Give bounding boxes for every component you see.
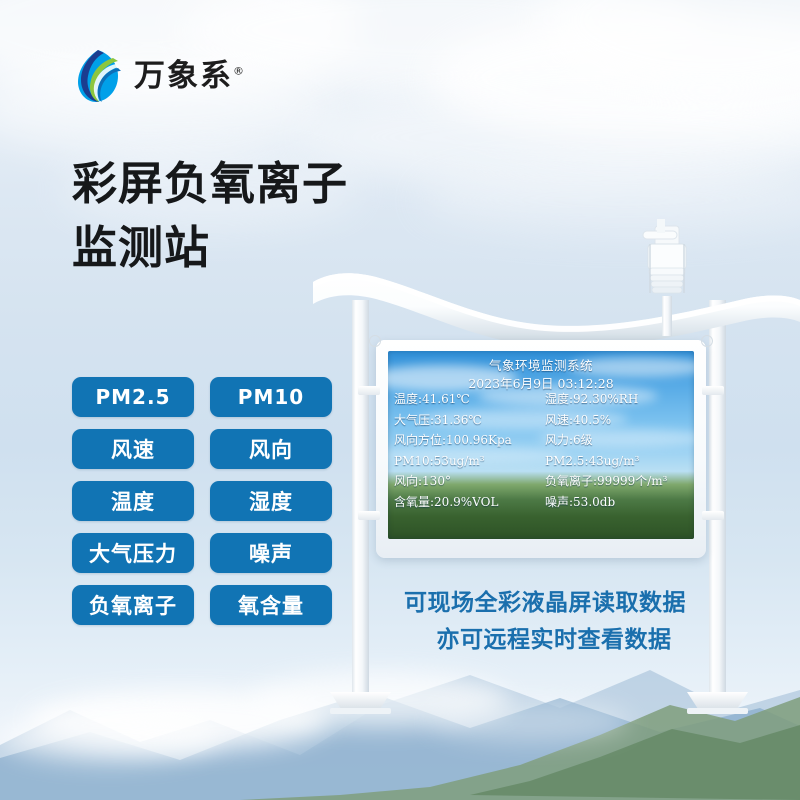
feature-tag[interactable]: 风向 [210,429,332,469]
feature-tag-grid: PM2.5PM10风速风向温度湿度大气压力噪声负氧离子氧含量 [72,377,332,625]
lcd-metric-left: 大气压:31.36℃ [394,414,537,426]
lcd-datetime: 2023年6月9日 03:12:28 [388,373,694,392]
feature-tag[interactable]: 温度 [72,481,194,521]
caption-line-2: 亦可远程实时查看数据 [380,622,710,659]
lcd-metric-left: 含氧量:20.9%VOL [394,496,537,508]
lcd-data-row: 风向:130°负氧离子:99999个/m³ [394,475,688,487]
lcd-screen: 气象环境监测系统 2023年6月9日 03:12:28 温度:41.61℃湿度:… [388,351,694,539]
feature-tag[interactable]: 大气压力 [72,533,194,573]
screen-hanger-right [701,335,713,347]
brand-logo: 万象系® [72,48,244,104]
lcd-title: 气象环境监测系统 [388,355,694,374]
lcd-metric-right: 负氧离子:99999个/m³ [537,475,688,487]
screen-bracket-left-top [358,386,380,395]
screen-bracket-left-bottom [358,511,380,520]
lcd-metric-left: 温度:41.61℃ [394,393,537,405]
low-cloud-shape [0,712,220,762]
page-title: 彩屏负氧离子 监测站 [72,152,492,280]
screen-bracket-right-bottom [702,511,724,520]
lcd-metric-left: 风向:130° [394,475,537,487]
lcd-data-row: 温度:41.61℃湿度:92.30%RH [394,393,688,405]
lcd-metric-right: 风力:6级 [537,434,688,446]
poster-canvas: 万象系® 彩屏负氧离子 监测站 PM2.5PM10风速风向温度湿度大气压力噪声负… [0,0,800,800]
screen-bracket-right-top [702,386,724,395]
lcd-readout: 气象环境监测系统 2023年6月9日 03:12:28 温度:41.61℃湿度:… [388,351,694,539]
brand-name-wrap: 万象系® [134,61,244,92]
lcd-metric-right: 风速:40.5% [537,414,688,426]
lcd-display-panel[interactable]: 气象环境监测系统 2023年6月9日 03:12:28 温度:41.61℃湿度:… [376,340,706,558]
headline-line-2: 监测站 [72,216,492,280]
lcd-metric-right: 噪声:53.0db [537,496,688,508]
lcd-data-row: 大气压:31.36℃风速:40.5% [394,414,688,426]
feature-tag[interactable]: 风速 [72,429,194,469]
lcd-data-row: 风向方位:100.96Kpa风力:6级 [394,434,688,446]
lcd-data-row: 含氧量:20.9%VOL噪声:53.0db [394,496,688,508]
feature-tag[interactable]: 湿度 [210,481,332,521]
feature-tag[interactable]: 氧含量 [210,585,332,625]
registered-mark: ® [233,64,244,77]
headline-line-1: 彩屏负氧离子 [72,152,492,216]
feature-tag[interactable]: 负氧离子 [72,585,194,625]
lcd-data-row: PM10:53ug/m³PM2.5:43ug/m³ [394,455,688,467]
feature-tag[interactable]: PM10 [210,377,332,417]
lcd-metric-left: PM10:53ug/m³ [394,455,537,467]
low-cloud-shape [430,700,630,742]
lcd-metric-right: PM2.5:43ug/m³ [537,455,688,467]
lcd-metric-left: 风向方位:100.96Kpa [394,434,537,446]
caption-block: 可现场全彩液晶屏读取数据 亦可远程实时查看数据 [380,585,710,660]
screen-hanger-left [369,335,381,347]
feature-tag[interactable]: 噪声 [210,533,332,573]
lcd-metric-right: 湿度:92.30%RH [537,393,688,405]
caption-line-1: 可现场全彩液晶屏读取数据 [380,585,710,622]
lcd-data-rows: 温度:41.61℃湿度:92.30%RH大气压:31.36℃风速:40.5%风向… [394,393,688,516]
feature-tag[interactable]: PM2.5 [72,377,194,417]
brand-name: 万象系 [134,58,233,94]
globe-swoosh-logo-icon [72,48,124,104]
